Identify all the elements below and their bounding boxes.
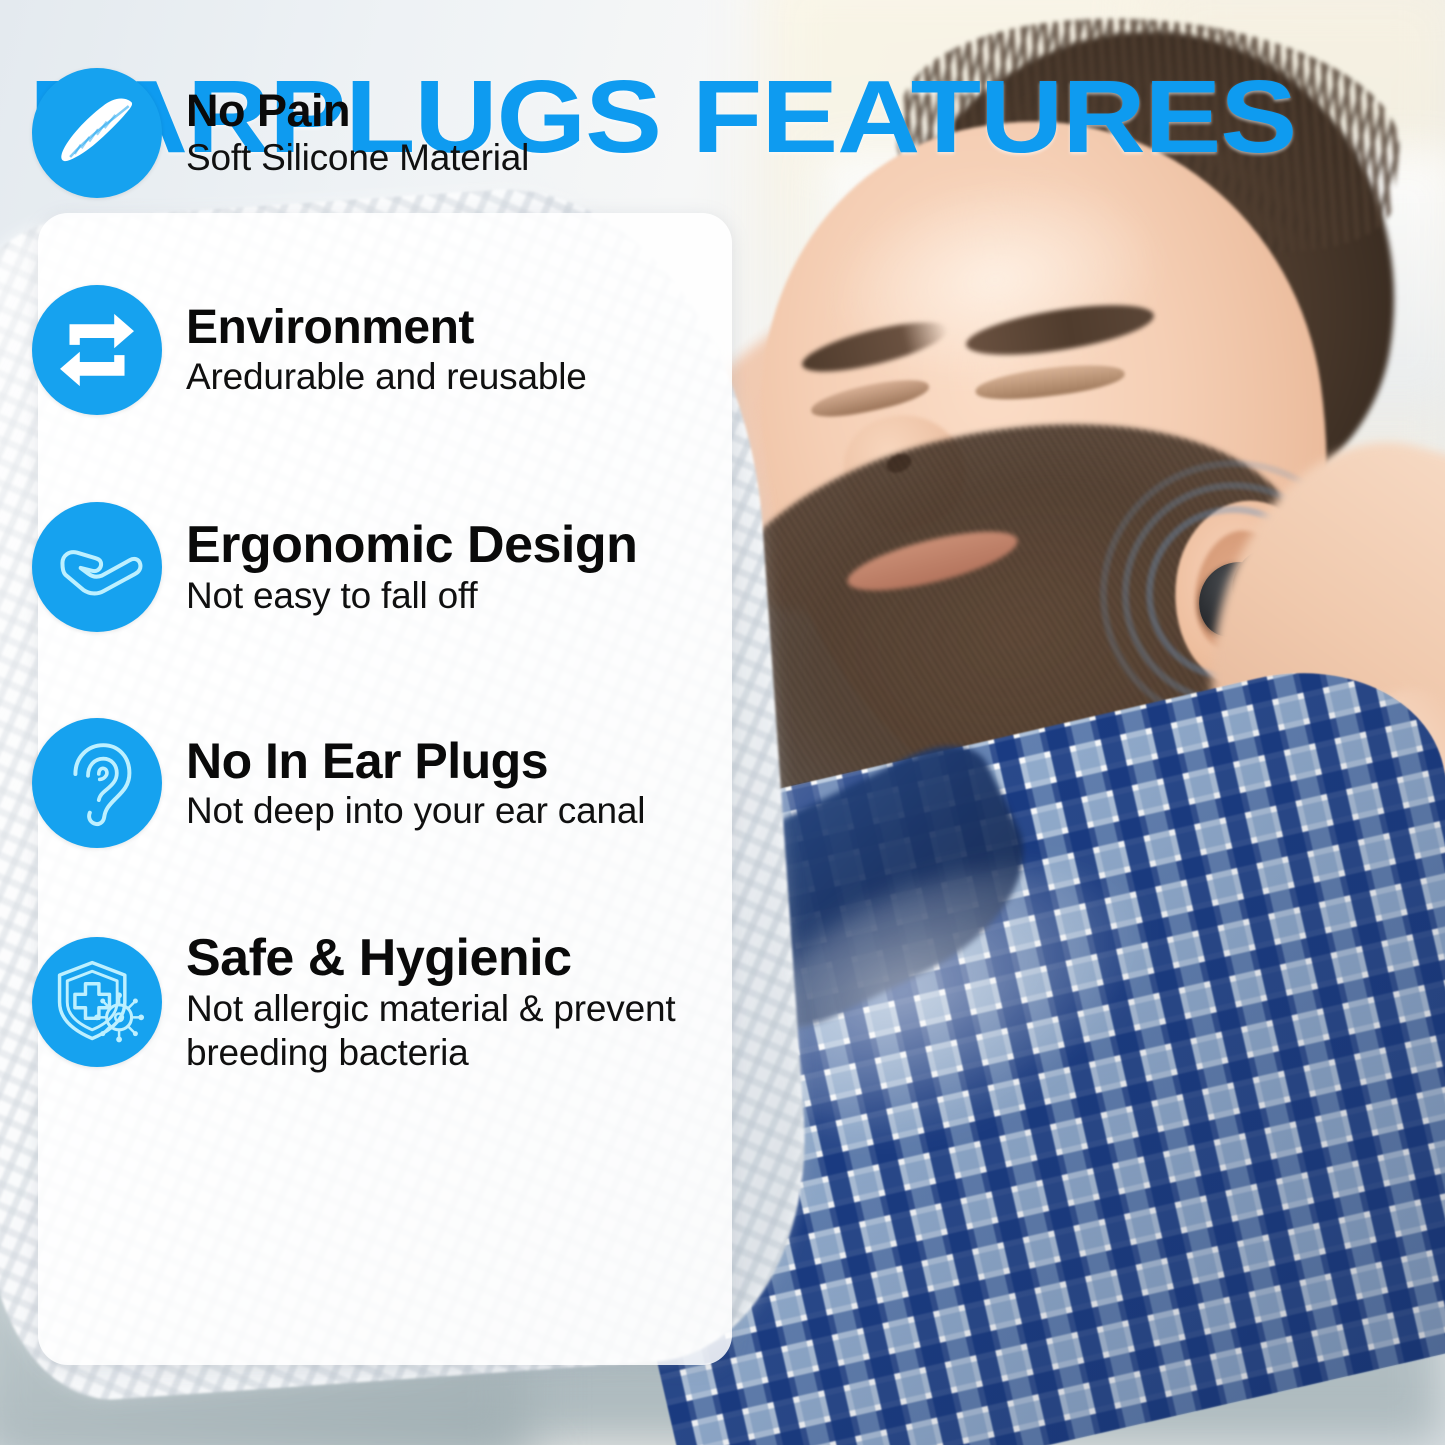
feature-text-ergonomic-design: Ergonomic Design Not easy to fall off [186, 517, 752, 618]
feature-text-no-pain: No Pain Soft Silicone Material [186, 86, 752, 180]
feather-icon-badge [32, 68, 162, 198]
feature-heading: No Pain [186, 88, 752, 134]
feature-subtext: Aredurable and reusable [186, 355, 752, 399]
feather-icon [49, 85, 145, 181]
feature-row-environment: Environment Aredurable and reusable [32, 285, 752, 415]
feature-heading: No In Ear Plugs [186, 736, 752, 787]
shield-virus-icon-badge [32, 937, 162, 1067]
feature-heading: Environment [186, 304, 752, 353]
repeat-arrows-icon [54, 307, 140, 393]
repeat-arrows-icon-badge [32, 285, 162, 415]
feature-row-ergonomic-design: Ergonomic Design Not easy to fall off [32, 502, 752, 632]
feature-row-no-in-ear-plugs: No In Ear Plugs Not deep into your ear c… [32, 718, 752, 848]
feature-text-no-in-ear-plugs: No In Ear Plugs Not deep into your ear c… [186, 734, 752, 833]
feature-subtext: Not allergic material & prevent breeding… [186, 987, 686, 1074]
feature-heading: Ergonomic Design [186, 519, 752, 572]
feature-row-safe-hygienic: Safe & Hygienic Not allergic material & … [32, 930, 752, 1074]
features-list: No Pain Soft Silicone Material Environme… [0, 0, 1445, 1445]
open-hand-icon [49, 519, 145, 615]
shield-virus-icon [49, 954, 145, 1050]
feature-subtext: Not deep into your ear canal [186, 789, 752, 833]
feature-subtext: Soft Silicone Material [186, 136, 752, 180]
open-hand-icon-badge [32, 502, 162, 632]
feature-text-environment: Environment Aredurable and reusable [186, 302, 752, 399]
feature-subtext: Not easy to fall off [186, 574, 752, 618]
ear-icon-badge [32, 718, 162, 848]
feature-text-safe-hygienic: Safe & Hygienic Not allergic material & … [186, 930, 752, 1074]
ear-icon [52, 738, 142, 828]
feature-row-no-pain: No Pain Soft Silicone Material [32, 68, 752, 198]
feature-heading: Safe & Hygienic [186, 932, 752, 985]
